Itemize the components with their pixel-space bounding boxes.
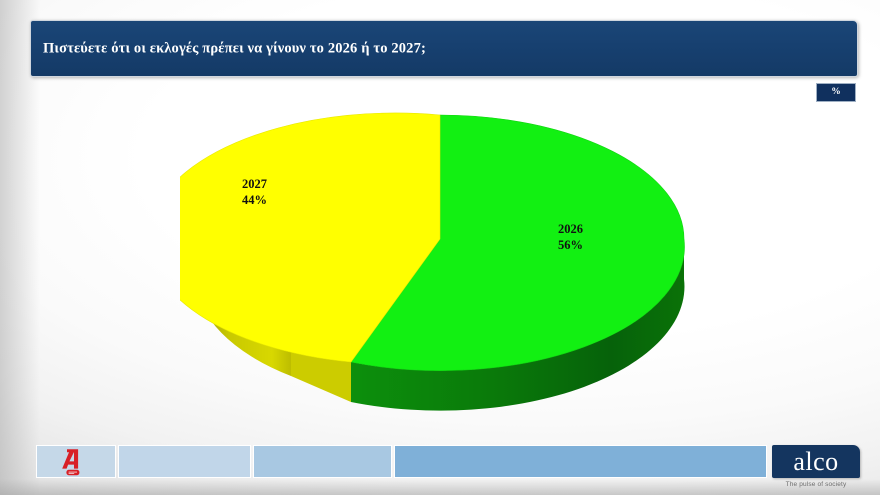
page-title: Πιστεύετε ότι οι εκλογές πρέπει να γίνου…	[43, 40, 426, 57]
alco-logo: alco	[772, 445, 860, 478]
alpha-a-logo-icon	[58, 448, 88, 477]
pie-label-2027-value: 44%	[242, 192, 267, 208]
footer-bar: alco The pulse of society	[0, 445, 880, 495]
alco-wordmark: alco	[793, 449, 838, 475]
question-title-bar: Πιστεύετε ότι οι εκλογές πρέπει να γίνου…	[30, 20, 858, 77]
pie-chart: 2027 44% 2026 56%	[180, 108, 700, 428]
pie-label-2027: 2027 44%	[242, 176, 267, 208]
footer-segment-2	[118, 445, 251, 478]
footer-segment-3	[253, 445, 392, 478]
pie-label-2026-name: 2026	[558, 221, 583, 237]
pie-chart-svg	[180, 108, 700, 428]
percent-unit-label: %	[831, 88, 841, 98]
alco-tagline: The pulse of society	[772, 481, 860, 488]
percent-unit-badge: %	[816, 83, 856, 102]
pie-label-2027-name: 2027	[242, 176, 267, 192]
pie-label-2026: 2026 56%	[558, 221, 583, 253]
footer-segment-4	[394, 445, 767, 478]
pie-label-2026-value: 56%	[558, 237, 583, 253]
slide-canvas: Πιστεύετε ότι οι εκλογές πρέπει να γίνου…	[0, 0, 880, 495]
